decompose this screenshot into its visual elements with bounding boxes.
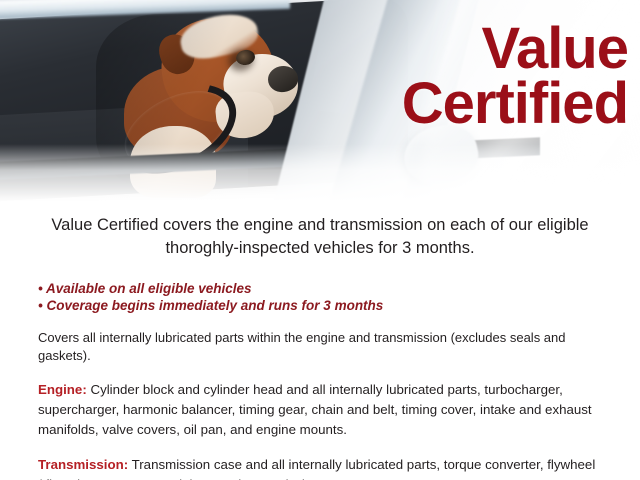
content-area: Value Certified covers the engine and tr…	[0, 202, 640, 480]
engine-coverage-text: Cylinder block and cylinder head and all…	[38, 382, 592, 436]
intro-paragraph: Value Certified covers the engine and tr…	[40, 214, 600, 261]
photo-bottom-fade	[0, 144, 640, 202]
value-certified-banner: Value Certified Value Certified covers t…	[0, 0, 640, 480]
hero-photo: Value Certified	[0, 0, 640, 202]
transmission-label: Transmission:	[38, 457, 128, 472]
feature-bullet-list: Available on all eligible vehicles Cover…	[38, 280, 640, 315]
hero-title-line-2: Certified	[248, 77, 628, 132]
transmission-coverage-section: Transmission: Transmission case and all …	[38, 455, 602, 480]
list-item: Available on all eligible vehicles	[38, 280, 640, 297]
hero-title-line-1: Value	[248, 22, 628, 77]
hero-title: Value Certified	[248, 22, 628, 131]
coverage-note: Covers all internally lubricated parts w…	[38, 329, 602, 364]
engine-coverage-section: Engine: Cylinder block and cylinder head…	[38, 380, 602, 439]
list-item: Coverage begins immediately and runs for…	[38, 297, 640, 314]
engine-label: Engine:	[38, 382, 87, 397]
